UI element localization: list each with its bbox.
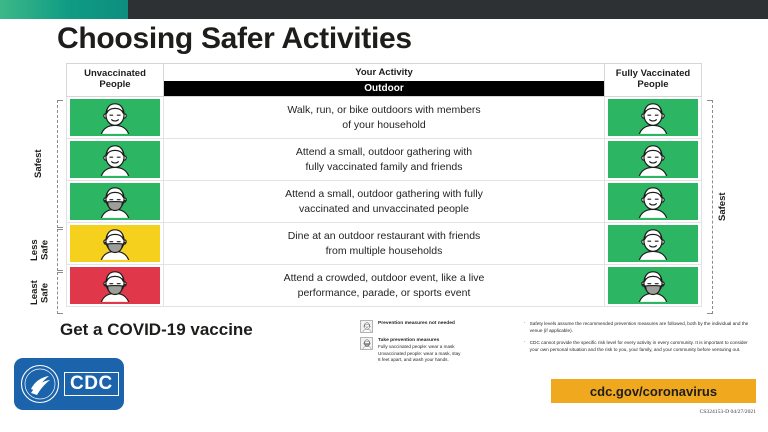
masked-person-icon: [636, 270, 670, 302]
risk-swatch: [608, 99, 698, 136]
table-row: Dine at an outdoor restaurant with frien…: [66, 223, 702, 265]
legend: Prevention measures not neededTake preve…: [360, 320, 510, 368]
vaccinated-risk-cell: [605, 139, 701, 180]
risk-swatch: [608, 141, 698, 178]
vaccinated-risk-cell: [605, 181, 701, 222]
note-text: CDC cannot provide the specific risk lev…: [530, 339, 756, 353]
legend-person-icon: [360, 320, 373, 333]
table-row: Walk, run, or bike outdoors with members…: [66, 97, 702, 139]
top-bar-teal-accent: [0, 0, 128, 19]
unvaccinated-risk-cell: [67, 223, 163, 264]
legend-heading: Prevention measures not needed: [378, 320, 455, 327]
footer-publication-code: CS324153-D 04/27/2021: [0, 409, 756, 415]
vaccinated-risk-cell: [605, 265, 701, 306]
bullet-icon: ·: [524, 320, 526, 334]
legend-detail-line: Unvaccinated people: wear a mask, stay: [378, 351, 460, 358]
unvaccinated-risk-cell: [67, 97, 163, 138]
cdc-wordmark: CDC: [64, 372, 119, 396]
risk-swatch: [608, 267, 698, 304]
activities-table: Unvaccinated People Your Activity Outdoo…: [66, 63, 702, 307]
legend-detail-line: 6 feet apart, and wash your hands.: [378, 357, 460, 364]
activity-description: Attend a crowded, outdoor event, like a …: [163, 265, 605, 306]
activity-line-1: Attend a small, outdoor gathering with f…: [285, 188, 483, 200]
activity-line-1: Dine at an outdoor restaurant with frien…: [288, 230, 481, 242]
bracket-less-safe: [57, 229, 63, 271]
bracket-least-safe: [57, 272, 63, 314]
legend-heading: Take prevention measures: [378, 337, 460, 344]
activity-line-2: of your household: [342, 119, 425, 131]
unvaccinated-risk-cell: [67, 139, 163, 180]
person-icon: [636, 144, 670, 176]
activity-description: Attend a small, outdoor gathering withfu…: [163, 139, 605, 180]
activity-line-2: vaccinated and unvaccinated people: [299, 203, 469, 215]
risk-swatch: [70, 141, 160, 178]
masked-person-icon: [98, 270, 132, 302]
vaccinated-risk-cell: [605, 97, 701, 138]
risk-swatch: [608, 183, 698, 220]
outdoor-band: Outdoor: [164, 81, 604, 96]
table-row: Attend a small, outdoor gathering withfu…: [66, 139, 702, 181]
activity-description: Dine at an outdoor restaurant with frien…: [163, 223, 605, 264]
masked-person-icon: [98, 186, 132, 218]
activity-line-2: performance, parade, or sports event: [298, 287, 471, 299]
risk-swatch: [70, 225, 160, 262]
risk-swatch: [70, 267, 160, 304]
hhs-seal-icon: [20, 364, 60, 404]
cta-text: Get a COVID-19 vaccine: [60, 320, 253, 340]
cdc-logo: CDC: [14, 358, 124, 410]
page-title: Choosing Safer Activities: [57, 22, 412, 56]
top-bar: [0, 0, 768, 19]
person-icon: [98, 102, 132, 134]
column-header-unvaccinated: Unvaccinated People: [67, 64, 163, 96]
risk-swatch: [608, 225, 698, 262]
activity-line-1: Attend a crowded, outdoor event, like a …: [284, 272, 485, 284]
scale-label-least-safe: Least Safe: [30, 272, 51, 314]
note-text: Safety levels assume the recommended pre…: [530, 320, 756, 334]
activity-description: Attend a small, outdoor gathering with f…: [163, 181, 605, 222]
notes-list: ·Safety levels assume the recommended pr…: [524, 320, 756, 358]
person-icon: [98, 144, 132, 176]
scale-label-less-safe: Less Safe: [30, 229, 51, 271]
legend-text: Prevention measures not needed: [378, 320, 455, 333]
legend-text: Take prevention measuresFully vaccinated…: [378, 337, 460, 364]
column-header-activity-label: Your Activity: [164, 64, 604, 81]
legend-item: Prevention measures not needed: [360, 320, 510, 333]
person-icon: [636, 102, 670, 134]
activity-line-1: Attend a small, outdoor gathering with: [296, 146, 472, 158]
unvaccinated-risk-cell: [67, 181, 163, 222]
bullet-icon: ·: [524, 339, 526, 353]
person-icon: [636, 186, 670, 218]
activity-description: Walk, run, or bike outdoors with members…: [163, 97, 605, 138]
person-icon: [636, 228, 670, 260]
unvaccinated-risk-cell: [67, 265, 163, 306]
bracket-safest-left: [57, 100, 63, 228]
activity-line-2: fully vaccinated family and friends: [306, 161, 463, 173]
table-header-row: Unvaccinated People Your Activity Outdoo…: [66, 63, 702, 97]
activity-line-2: from multiple households: [326, 245, 443, 257]
top-bar-dark: [128, 0, 768, 19]
legend-detail-line: Fully vaccinated people: wear a mask: [378, 344, 460, 351]
legend-masked-person-icon: [360, 337, 373, 350]
column-header-activity: Your Activity Outdoor: [163, 64, 605, 96]
person-icon: [362, 322, 372, 332]
column-header-unvaccinated-line2: People: [99, 80, 130, 91]
note-item: ·Safety levels assume the recommended pr…: [524, 320, 756, 334]
url-label: cdc.gov/coronavirus: [590, 384, 717, 399]
vaccinated-risk-cell: [605, 223, 701, 264]
table-row: Attend a crowded, outdoor event, like a …: [66, 265, 702, 307]
scale-label-safest-right: Safest: [718, 100, 728, 314]
masked-person-icon: [362, 339, 372, 349]
legend-item: Take prevention measuresFully vaccinated…: [360, 337, 510, 364]
masked-person-icon: [98, 228, 132, 260]
activity-line-1: Walk, run, or bike outdoors with members: [287, 104, 480, 116]
bracket-safest-right: [707, 100, 713, 314]
table-row: Attend a small, outdoor gathering with f…: [66, 181, 702, 223]
column-header-vaccinated: Fully Vaccinated People: [605, 64, 701, 96]
column-header-vaccinated-line2: People: [637, 80, 668, 91]
infographic-page: Choosing Safer Activities Safest Less Sa…: [0, 0, 768, 432]
url-banner[interactable]: cdc.gov/coronavirus: [551, 379, 756, 403]
note-item: ·CDC cannot provide the specific risk le…: [524, 339, 756, 353]
scale-label-safest-left: Safest: [34, 100, 44, 228]
risk-swatch: [70, 99, 160, 136]
risk-swatch: [70, 183, 160, 220]
